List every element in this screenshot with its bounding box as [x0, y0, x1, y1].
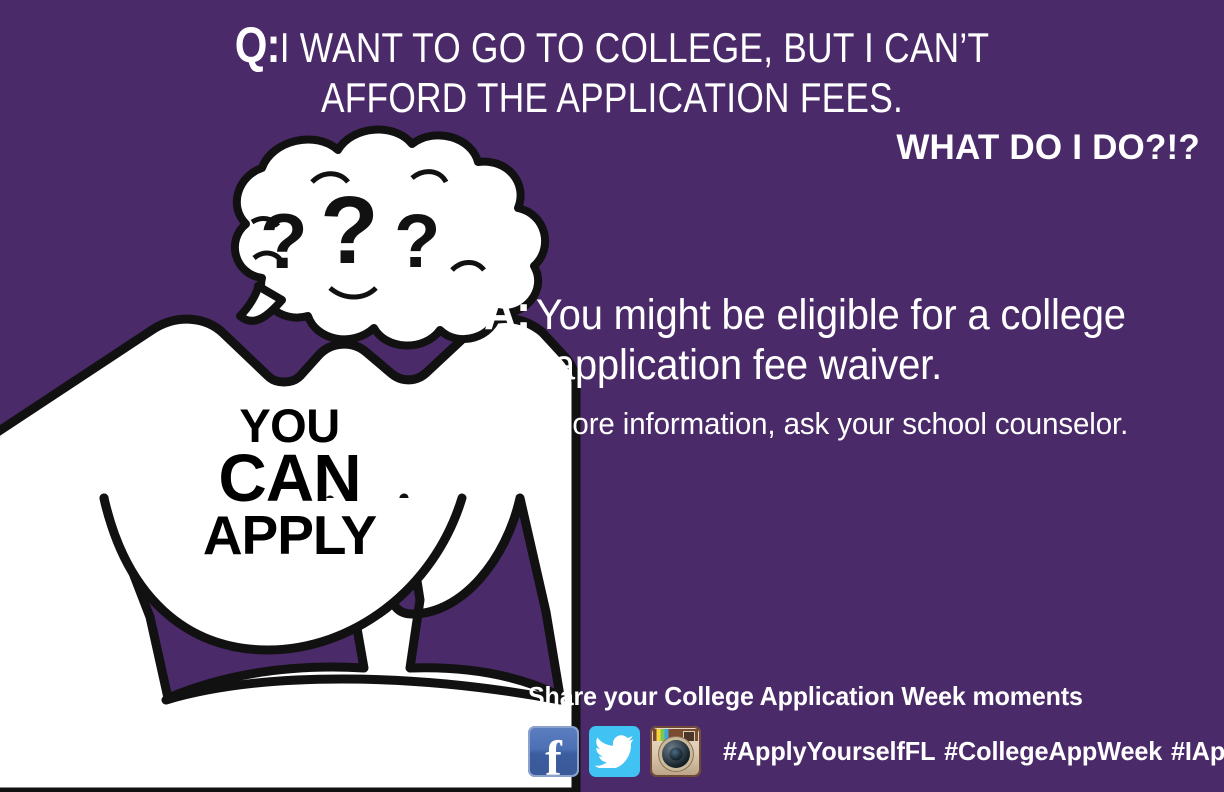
answer-block: A:You might be eligible for a college ap… — [484, 286, 1214, 389]
question-line-1: Q:I WANT TO GO TO COLLEGE, BUT I CAN’T — [98, 16, 1126, 74]
answer-line-1-text: You might be eligible for a college — [536, 291, 1126, 339]
shirt-slogan-line-can: CAN — [182, 448, 397, 510]
social-icon-row: f #ApplyYourselfFL#CollegeAppWeek#IAppli… — [528, 726, 1218, 777]
question-mark-icon-2: ? — [320, 176, 379, 286]
question-marker: Q: — [235, 17, 280, 73]
thought-bubble-question-marks: ? ? ? — [252, 176, 452, 286]
twitter-bird-glyph — [595, 735, 634, 768]
shirt-hem — [166, 679, 560, 700]
question-emphasis: WHAT DO I DO?!? — [896, 128, 1200, 168]
question-line-1-text: I WANT TO GO TO COLLEGE, BUT I CAN’T — [280, 24, 990, 71]
hashtag-i-applied[interactable]: #IApplied — [1171, 736, 1224, 766]
instagram-lens — [662, 740, 690, 768]
thought-bubble-wisp-5 — [330, 288, 376, 297]
instagram-viewfinder — [683, 731, 695, 742]
facebook-icon[interactable]: f — [528, 726, 579, 777]
question-block: Q:I WANT TO GO TO COLLEGE, BUT I CAN’T A… — [0, 16, 1224, 123]
answer-line-1: A:You might be eligible for a college — [484, 286, 1163, 341]
question-line-2: AFFORD THE APPLICATION FEES. — [98, 74, 1126, 123]
thought-bubble-wisp-6 — [452, 263, 484, 271]
hashtag-college-app-week[interactable]: #CollegeAppWeek — [944, 736, 1162, 766]
answer-line-2: application fee waiver. — [484, 341, 1163, 389]
instagram-lens-inner — [669, 748, 682, 761]
hashtag-list: #ApplyYourselfFL#CollegeAppWeek#IApplied — [723, 736, 1224, 767]
instagram-icon[interactable] — [650, 726, 701, 777]
shirt-slogan-line-apply: APPLY — [182, 510, 397, 561]
answer-subtext: For more information, ask your school co… — [496, 406, 1186, 442]
question-mark-icon-1: ? — [260, 196, 308, 287]
shirt-slogan: YOU CAN APPLY — [182, 404, 397, 561]
share-block: Share your College Application Week mome… — [528, 681, 1218, 777]
facebook-glyph: f — [528, 733, 579, 777]
question-mark-icon-3: ? — [394, 198, 440, 285]
answer-marker: A: — [484, 286, 536, 340]
poster-canvas: ? ? ? YOU CAN APPLY Q:I WANT TO GO TO CO… — [0, 0, 1224, 792]
shirt-collar-right — [389, 498, 560, 696]
hashtag-apply-yourself-fl[interactable]: #ApplyYourselfFL — [723, 736, 935, 766]
thought-bubble-tail — [240, 286, 282, 321]
share-title: Share your College Application Week mome… — [528, 681, 1190, 712]
twitter-icon[interactable] — [589, 726, 640, 777]
